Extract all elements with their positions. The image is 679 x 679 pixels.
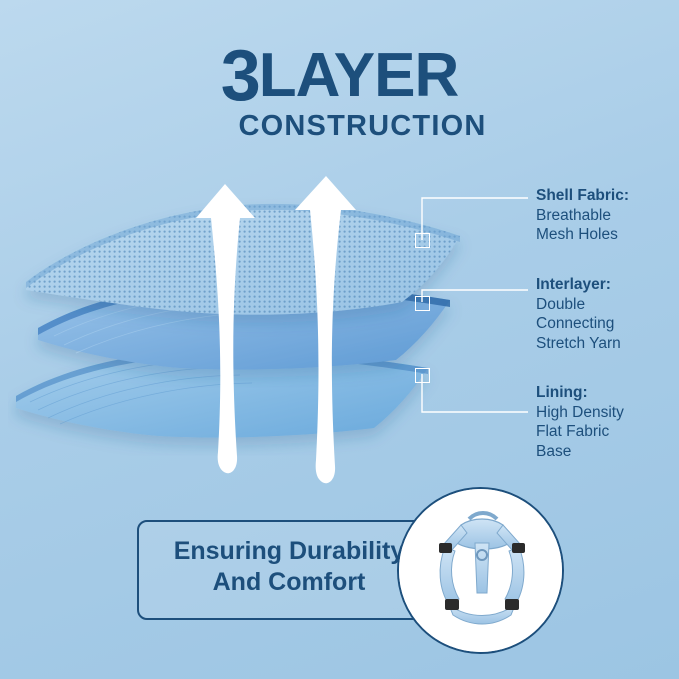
layer-marker-shell	[415, 233, 430, 248]
infographic-canvas: 3 LAYER CONSTRUCTION	[0, 0, 679, 679]
callout-line: Base	[536, 442, 624, 462]
callout-lining: Lining: High Density Flat Fabric Base	[536, 383, 624, 461]
product-photo-circle	[397, 487, 564, 654]
layer-marker-interlayer	[415, 296, 430, 311]
callout-line: Mesh Holes	[536, 225, 629, 245]
page-title: 3 LAYER CONSTRUCTION	[0, 36, 679, 143]
dog-harness-icon	[399, 489, 562, 652]
tagline-line-2: And Comfort	[139, 567, 439, 598]
callout-heading: Shell Fabric:	[536, 186, 629, 206]
title-word: LAYER	[259, 45, 458, 107]
title-subtitle: CONSTRUCTION	[0, 110, 679, 143]
layer-stack-svg	[8, 160, 478, 500]
layer-marker-lining	[415, 368, 430, 383]
callout-line: Breathable	[536, 206, 629, 226]
callout-heading: Lining:	[536, 383, 624, 403]
layer-shell-fabric	[26, 204, 460, 315]
title-main-row: 3 LAYER	[0, 36, 679, 108]
callout-line: Stretch Yarn	[536, 334, 621, 354]
tagline-text: Ensuring Durability And Comfort	[139, 536, 439, 599]
tagline-line-1: Ensuring Durability	[139, 536, 439, 567]
layer-stack-illustration	[8, 160, 468, 490]
callout-line: Connecting	[536, 314, 621, 334]
callout-line: Flat Fabric	[536, 422, 624, 442]
callout-heading: Interlayer:	[536, 275, 621, 295]
callout-shell-fabric: Shell Fabric: Breathable Mesh Holes	[536, 186, 629, 245]
callout-line: Double	[536, 295, 621, 315]
title-number: 3	[221, 40, 259, 112]
callout-interlayer: Interlayer: Double Connecting Stretch Ya…	[536, 275, 621, 353]
callout-line: High Density	[536, 403, 624, 423]
